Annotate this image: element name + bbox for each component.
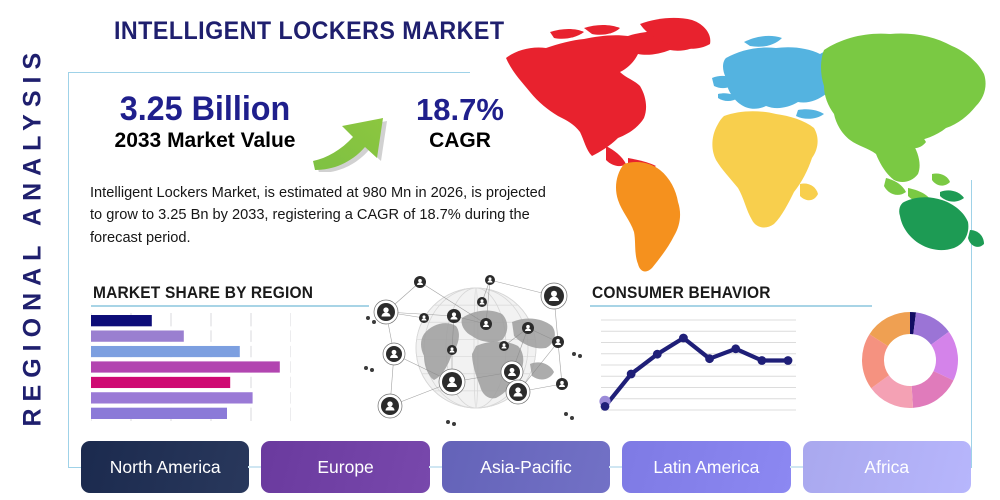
line-marker-4 [679, 334, 688, 343]
line-marker-1 [601, 402, 610, 411]
region-button-label: Europe [317, 457, 373, 478]
side-label: REGIONAL ANALYSIS [0, 0, 66, 500]
region-button-europe[interactable]: Europe [261, 441, 429, 493]
line-marker-8 [784, 356, 793, 365]
kpi-value-label: 2033 Market Value [90, 129, 320, 153]
bar-5 [91, 377, 230, 388]
map-oceania [899, 190, 984, 250]
region-button-label: Latin America [653, 457, 759, 478]
bar-4 [91, 361, 280, 372]
bar-1 [91, 315, 152, 326]
line-marker-7 [757, 356, 766, 365]
region-connector [609, 466, 623, 468]
region-button-asia-pacific[interactable]: Asia-Pacific [442, 441, 610, 493]
line-chart-consumer-behavior [597, 312, 802, 420]
bar-2 [91, 330, 184, 341]
region-button-label: North America [110, 457, 221, 478]
bar-7 [91, 408, 227, 419]
bar-6 [91, 392, 253, 403]
map-africa [712, 111, 818, 227]
side-label-text: REGIONAL ANALYSIS [19, 47, 48, 427]
globe-network-graphic [362, 272, 590, 428]
kpi-row: 3.25 Billion 2033 Market Value 18.7% CAG… [90, 92, 520, 170]
heading-rule-consumer [590, 305, 872, 307]
region-button-north-america[interactable]: North America [81, 441, 249, 493]
line-marker-2 [627, 370, 636, 379]
line-marker-3 [653, 350, 662, 359]
map-north-america [506, 18, 710, 170]
page-title: INTELLIGENT LOCKERS MARKET [114, 17, 505, 46]
growth-arrow-icon [308, 88, 408, 172]
region-button-label: Africa [864, 457, 909, 478]
heading-rule-market-share [91, 305, 369, 307]
line-marker-6 [731, 344, 740, 353]
region-button-africa[interactable]: Africa [803, 441, 971, 493]
region-button-label: Asia-Pacific [480, 457, 571, 478]
region-connector [248, 466, 262, 468]
heading-market-share: MARKET SHARE BY REGION [93, 284, 313, 303]
region-connector [790, 466, 804, 468]
world-map [488, 6, 1000, 278]
map-asia [821, 34, 986, 204]
kpi-market-value: 3.25 Billion 2033 Market Value [90, 92, 320, 153]
line-marker-5 [705, 354, 714, 363]
heading-consumer-behavior: CONSUMER BEHAVIOR [592, 284, 771, 303]
infographic-root: REGIONAL ANALYSIS INTELLIGENT LOCKERS MA… [0, 0, 1000, 500]
map-south-america [616, 162, 680, 271]
bar-3 [91, 346, 240, 357]
region-buttons-row: North AmericaEuropeAsia-PacificLatin Ame… [81, 441, 971, 493]
donut-chart [858, 308, 962, 412]
region-connector [429, 466, 443, 468]
bar-chart-market-share [91, 313, 291, 421]
region-button-latin-america[interactable]: Latin America [622, 441, 790, 493]
kpi-value-text: 3.25 Billion [96, 92, 315, 128]
